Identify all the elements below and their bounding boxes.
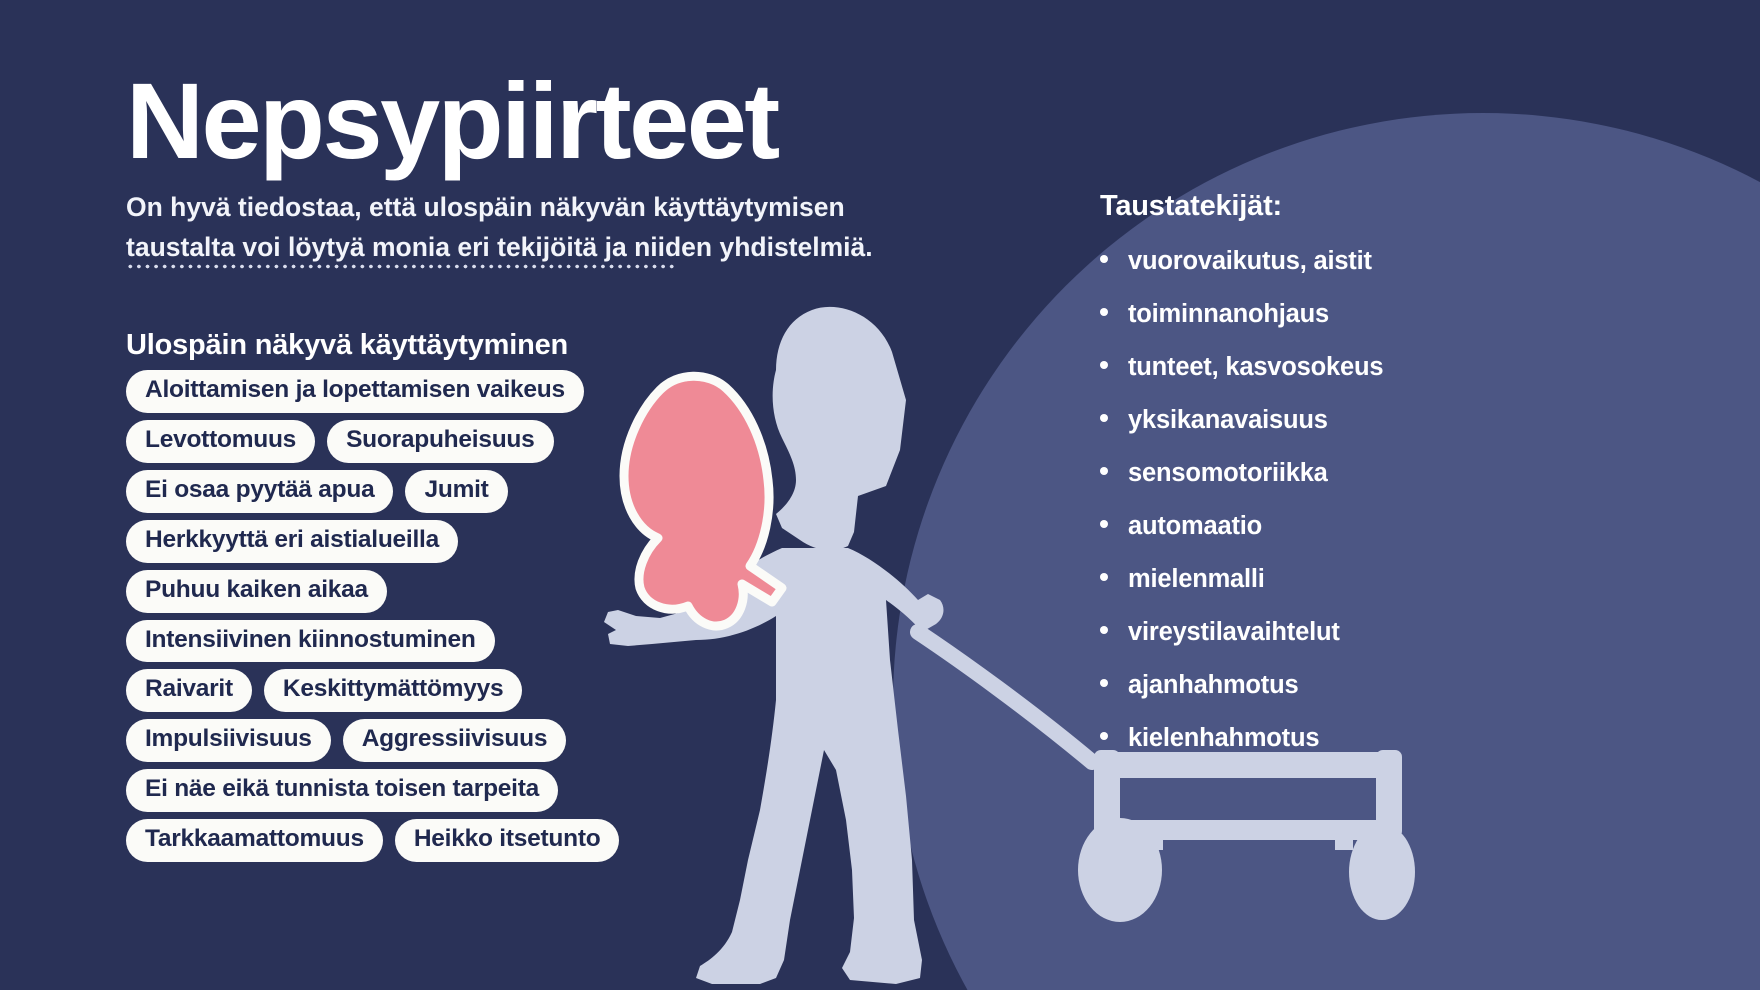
behavior-pill[interactable]: Levottomuus: [126, 420, 315, 463]
list-item: vuorovaikutus, aistit: [1100, 247, 1550, 276]
list-item: automaatio: [1100, 512, 1550, 541]
behavior-pill[interactable]: Ei osaa pyytää apua: [126, 470, 393, 513]
list-item: tunteet, kasvosokeus: [1100, 353, 1550, 382]
factor-label: tunteet, kasvosokeus: [1128, 353, 1383, 382]
behavior-pill[interactable]: Heikko itsetunto: [395, 819, 620, 862]
behavior-pill[interactable]: Aggressiivisuus: [343, 719, 567, 762]
behavior-pill[interactable]: Puhuu kaiken aikaa: [126, 570, 387, 613]
factor-label: sensomotoriikka: [1128, 459, 1328, 488]
pill-row: ImpulsiivisuusAggressiivisuus: [126, 719, 766, 762]
behavior-pill-list: Aloittamisen ja lopettamisen vaikeus Lev…: [126, 370, 766, 862]
factor-label: vireystilavaihtelut: [1128, 618, 1340, 647]
bullet-icon: [1100, 361, 1108, 369]
factor-label: vuorovaikutus, aistit: [1128, 247, 1372, 276]
factors-heading: Taustatekijät:: [1100, 190, 1550, 223]
wagon-wheel-front: [1078, 818, 1162, 922]
list-item: yksikanavaisuus: [1100, 406, 1550, 435]
behavior-pill[interactable]: Ei näe eikä tunnista toisen tarpeita: [126, 769, 558, 812]
bullet-icon: [1100, 467, 1108, 475]
factor-label: automaatio: [1128, 512, 1262, 541]
bullet-icon: [1100, 414, 1108, 422]
behavior-section-heading: Ulospäin näkyvä käyttäytyminen: [126, 329, 568, 362]
behavior-pill[interactable]: Jumit: [405, 470, 507, 513]
list-item: vireystilavaihtelut: [1100, 618, 1550, 647]
factor-label: ajanhahmotus: [1128, 671, 1298, 700]
subtitle-text: On hyvä tiedostaa, että ulospäin näkyvän…: [126, 187, 956, 268]
pill-row: LevottomuusSuorapuheisuus: [126, 420, 766, 463]
wagon-handle: [918, 632, 1092, 762]
list-item: sensomotoriikka: [1100, 459, 1550, 488]
pill-row: Ei osaa pyytää apuaJumit: [126, 470, 766, 513]
list-item: ajanhahmotus: [1100, 671, 1550, 700]
page-title: Nepsypiirteet: [126, 64, 778, 177]
behavior-pill[interactable]: Aloittamisen ja lopettamisen vaikeus: [126, 370, 584, 413]
bullet-icon: [1100, 679, 1108, 687]
behavior-pill[interactable]: Impulsiivisuus: [126, 719, 331, 762]
pill-row: Puhuu kaiken aikaa: [126, 570, 766, 613]
bullet-icon: [1100, 520, 1108, 528]
list-item: kielenhahmotus: [1100, 724, 1550, 753]
behavior-pill[interactable]: Tarkkaamattomuus: [126, 819, 383, 862]
pill-row: RaivaritKeskittymättömyys: [126, 669, 766, 712]
pill-row: Ei näe eikä tunnista toisen tarpeita: [126, 769, 766, 812]
factors-list: vuorovaikutus, aistit toiminnanohjaus tu…: [1100, 247, 1550, 753]
infographic-canvas: Nepsypiirteet On hyvä tiedostaa, että ul…: [0, 0, 1760, 990]
pill-row: Herkkyyttä eri aistialueilla: [126, 520, 766, 563]
factor-label: toiminnanohjaus: [1128, 300, 1329, 329]
factor-label: yksikanavaisuus: [1128, 406, 1328, 435]
bullet-icon: [1100, 573, 1108, 581]
bullet-icon: [1100, 255, 1108, 263]
factor-label: kielenhahmotus: [1128, 724, 1319, 753]
background-factors-section: Taustatekijät: vuorovaikutus, aistit toi…: [1100, 190, 1550, 777]
pill-row: Intensiivinen kiinnostuminen: [126, 620, 766, 663]
bullet-icon: [1100, 626, 1108, 634]
behavior-pill[interactable]: Herkkyyttä eri aistialueilla: [126, 520, 458, 563]
behavior-pill[interactable]: Suorapuheisuus: [327, 420, 553, 463]
factor-label: mielenmalli: [1128, 565, 1265, 594]
bullet-icon: [1100, 732, 1108, 740]
dotted-divider: [126, 264, 674, 269]
pill-row: Aloittamisen ja lopettamisen vaikeus: [126, 370, 766, 413]
bullet-icon: [1100, 308, 1108, 316]
behavior-pill[interactable]: Raivarit: [126, 669, 252, 712]
pill-row: TarkkaamattomuusHeikko itsetunto: [126, 819, 766, 862]
list-item: toiminnanohjaus: [1100, 300, 1550, 329]
behavior-pill[interactable]: Intensiivinen kiinnostuminen: [126, 620, 495, 663]
list-item: mielenmalli: [1100, 565, 1550, 594]
behavior-pill[interactable]: Keskittymättömyys: [264, 669, 522, 712]
wagon-wheel-back: [1349, 824, 1415, 920]
